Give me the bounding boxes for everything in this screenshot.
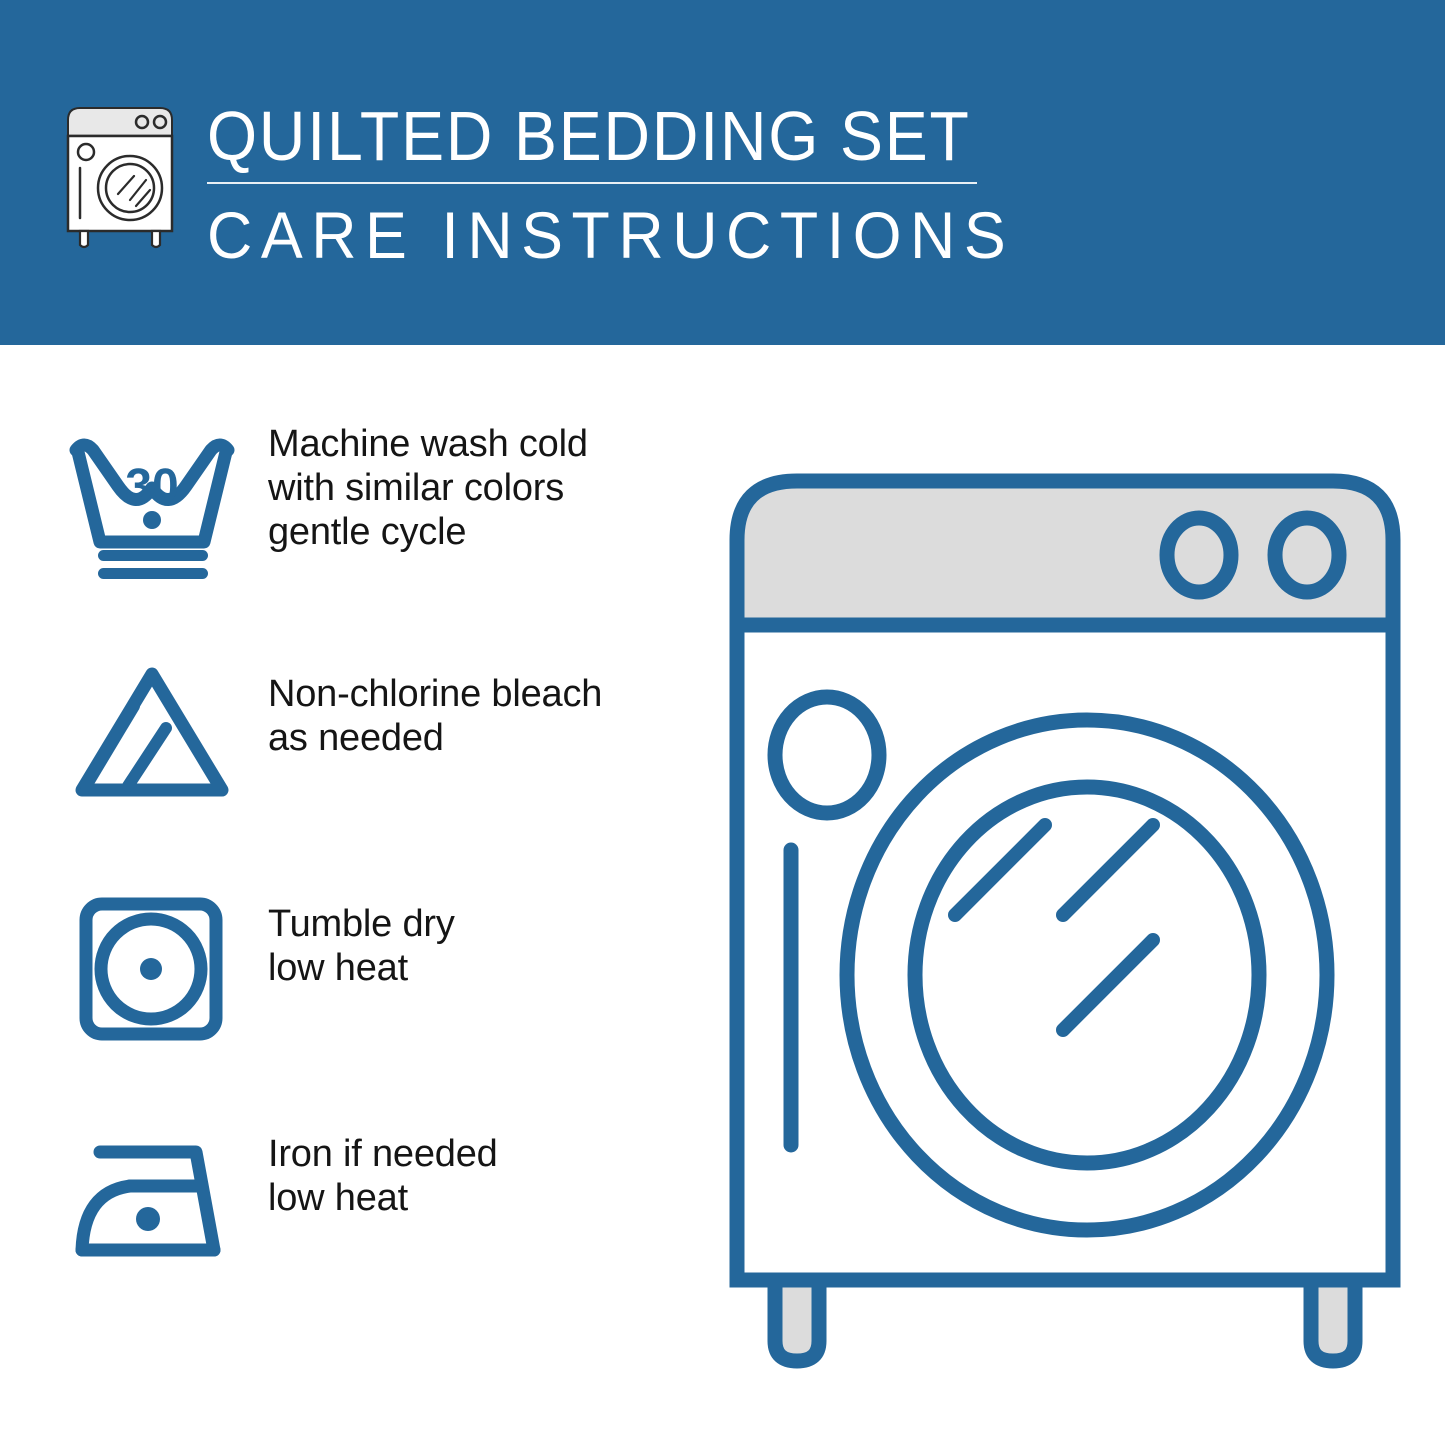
label-line: Iron if needed [268, 1132, 498, 1176]
label-line: Tumble dry [268, 902, 455, 946]
bleach-triangle-icon [62, 646, 242, 826]
front-load-washing-machine-illustration [715, 455, 1415, 1385]
wash-temperature-value: 30 [125, 460, 178, 513]
leg-right [1311, 1280, 1355, 1361]
control-panel [737, 481, 1393, 625]
care-instruction-list: 30 Machine wash cold with similar colors… [0, 420, 700, 1340]
list-item-label: Tumble dry low heat [268, 880, 455, 990]
header-text-block: QUILTED BEDDING SET CARE INSTRUCTIONS [207, 95, 1307, 272]
list-item-label: Iron if needed low heat [268, 1110, 498, 1220]
label-line: low heat [268, 946, 455, 990]
wash-tub-30-icon: 30 [62, 420, 242, 600]
title-divider [207, 182, 977, 184]
label-line: low heat [268, 1176, 498, 1220]
label-line: as needed [268, 716, 602, 760]
list-item: Tumble dry low heat [0, 880, 700, 1110]
list-item: 30 Machine wash cold with similar colors… [0, 420, 700, 650]
list-item-label: Machine wash cold with similar colors ge… [268, 420, 588, 554]
page-title: QUILTED BEDDING SET [207, 95, 1219, 177]
list-item: Non-chlorine bleach as needed [0, 650, 700, 880]
header-banner: QUILTED BEDDING SET CARE INSTRUCTIONS [0, 0, 1445, 345]
label-line: Non-chlorine bleach [268, 672, 602, 716]
label-line: gentle cycle [268, 510, 588, 554]
care-instructions-page: QUILTED BEDDING SET CARE INSTRUCTIONS 30… [0, 0, 1445, 1445]
washing-machine-logo-icon [60, 100, 180, 250]
tumble-dry-low-icon [62, 878, 242, 1058]
list-item-label: Non-chlorine bleach as needed [268, 650, 602, 760]
iron-low-heat-icon [62, 1114, 242, 1294]
list-item: Iron if needed low heat [0, 1110, 700, 1340]
label-line: Machine wash cold [268, 422, 588, 466]
label-line: with similar colors [268, 466, 588, 510]
page-subtitle: CARE INSTRUCTIONS [207, 198, 1252, 272]
leg-left [775, 1280, 819, 1361]
